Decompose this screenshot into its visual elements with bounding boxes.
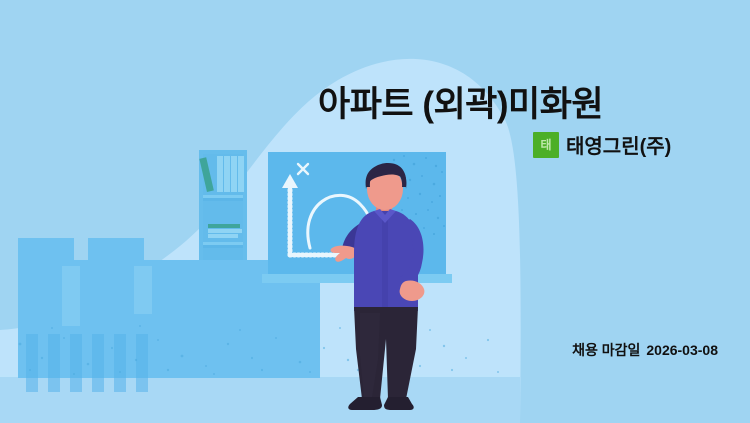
stacked-book-top [208, 224, 240, 228]
bookshelf-shelf-1 [203, 154, 243, 198]
application-deadline: 채용 마감일2026-03-08 [572, 340, 718, 360]
book [238, 156, 244, 192]
book [224, 156, 230, 192]
stacked-book-bottom [208, 234, 238, 238]
illustration-scene [0, 0, 520, 423]
person-illustration [330, 163, 438, 411]
company-row[interactable]: 태 태영그린(주) [533, 130, 671, 159]
book [217, 156, 223, 192]
book [231, 156, 237, 192]
bookshelf-shelf-2 [203, 201, 243, 245]
company-badge-icon: 태 [533, 132, 559, 158]
person-figure [330, 163, 438, 411]
deadline-date: 2026-03-08 [646, 342, 718, 358]
job-title: 아파트 (외곽)미화원 [318, 76, 603, 127]
speckle-dust-floor [0, 300, 520, 380]
company-name[interactable]: 태영그린(주) [566, 130, 671, 159]
stacked-book-mid [208, 229, 242, 233]
deadline-label: 채용 마감일 [572, 342, 640, 358]
job-posting-banner: 아파트 (외곽)미화원 태 태영그린(주) 채용 마감일2026-03-08 [0, 0, 750, 423]
